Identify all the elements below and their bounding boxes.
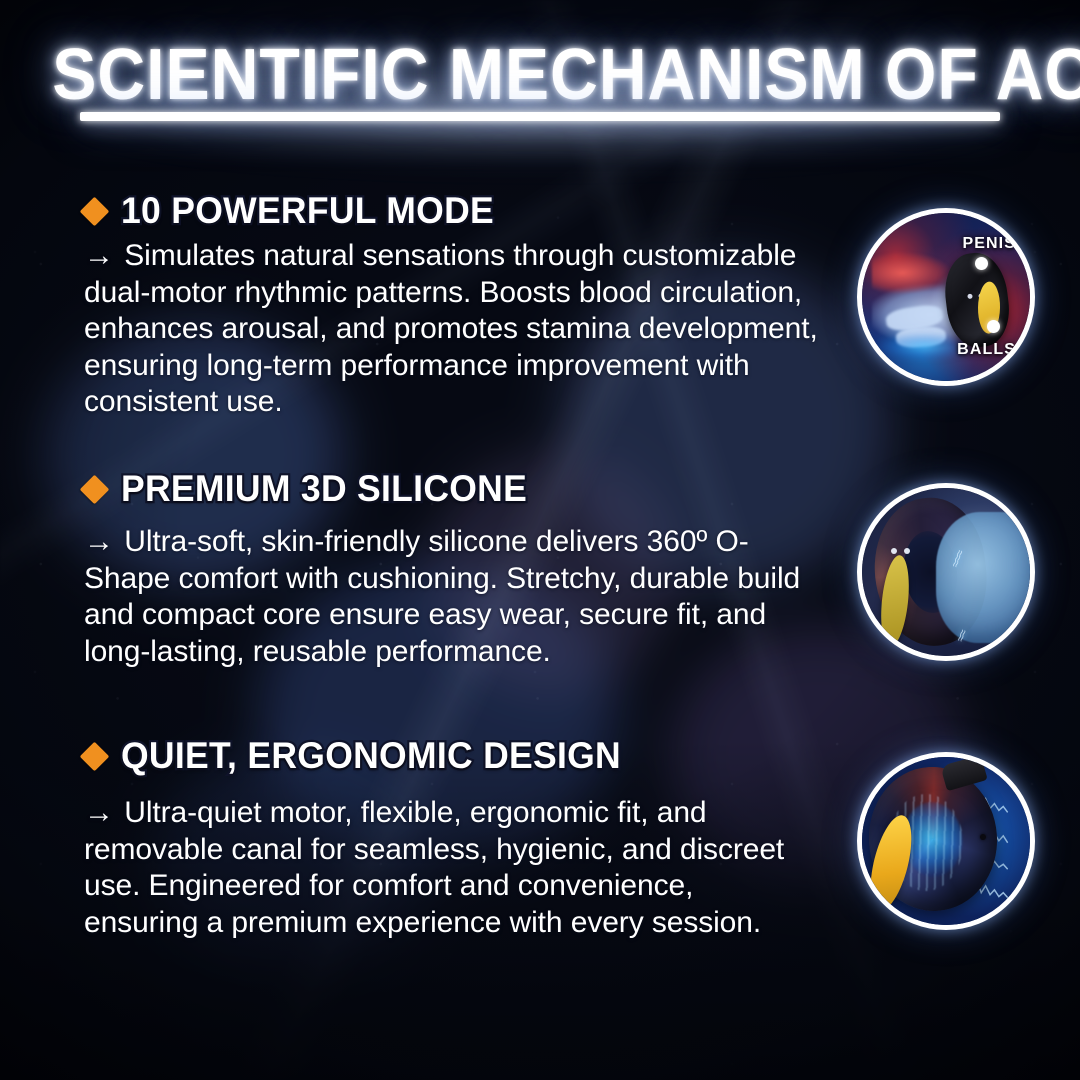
feature-section-3: QUIET, ERGONOMIC DESIGN → Ultra-quiet mo… bbox=[84, 735, 804, 941]
feature-heading-3: QUIET, ERGONOMIC DESIGN bbox=[121, 735, 621, 777]
title-block: SCIENTIFIC MECHANISM OF ACTION bbox=[0, 34, 1080, 116]
marker-dot-penis bbox=[975, 257, 988, 270]
hand-illustration-2 bbox=[936, 512, 1035, 643]
diamond-icon bbox=[80, 196, 110, 226]
arrow-icon: → bbox=[84, 239, 116, 272]
arrow-icon: → bbox=[84, 796, 116, 829]
promo-graphic: SCIENTIFIC MECHANISM OF ACTION 10 POWERF… bbox=[0, 0, 1080, 1080]
product-photo-ring-closeup: ≈≈≈ ≈≈ bbox=[857, 483, 1035, 661]
label-penis: PENIS bbox=[962, 235, 1016, 253]
marker-dot-balls bbox=[987, 320, 1000, 333]
product-photo-hand-ring: PENIS BALLS bbox=[857, 208, 1035, 386]
feature-section-2: PREMIUM 3D SILICONE → Ultra-soft, skin-f… bbox=[84, 468, 804, 670]
feature-body-text-2: Ultra-soft, skin-friendly silicone deliv… bbox=[84, 525, 800, 668]
feature-heading-row-2: PREMIUM 3D SILICONE bbox=[84, 468, 804, 510]
feature-section-1: 10 POWERFUL MODE → Simulates natural sen… bbox=[84, 190, 829, 421]
feature-heading-1: 10 POWERFUL MODE bbox=[121, 190, 494, 232]
feature-body-3: → Ultra-quiet motor, flexible, ergonomic… bbox=[84, 795, 804, 941]
feature-body-2: → Ultra-soft, skin-friendly silicone del… bbox=[84, 524, 804, 670]
diamond-icon bbox=[80, 741, 110, 771]
label-balls: BALLS bbox=[957, 341, 1016, 359]
title-underline bbox=[80, 112, 1000, 121]
feature-heading-row-1: 10 POWERFUL MODE bbox=[84, 190, 829, 232]
diamond-icon bbox=[80, 474, 110, 504]
product-photo-ring-waveform bbox=[857, 752, 1035, 930]
page-title: SCIENTIFIC MECHANISM OF ACTION bbox=[52, 34, 1080, 116]
feature-heading-2: PREMIUM 3D SILICONE bbox=[121, 468, 527, 510]
feature-body-text-1: Simulates natural sensations through cus… bbox=[84, 239, 818, 418]
ring-detail-dots bbox=[891, 548, 917, 554]
feature-heading-row-3: QUIET, ERGONOMIC DESIGN bbox=[84, 735, 804, 777]
feature-body-text-3: Ultra-quiet motor, flexible, ergonomic f… bbox=[84, 796, 784, 939]
feature-body-1: → Simulates natural sensations through c… bbox=[84, 238, 829, 421]
arrow-icon: → bbox=[84, 525, 116, 558]
